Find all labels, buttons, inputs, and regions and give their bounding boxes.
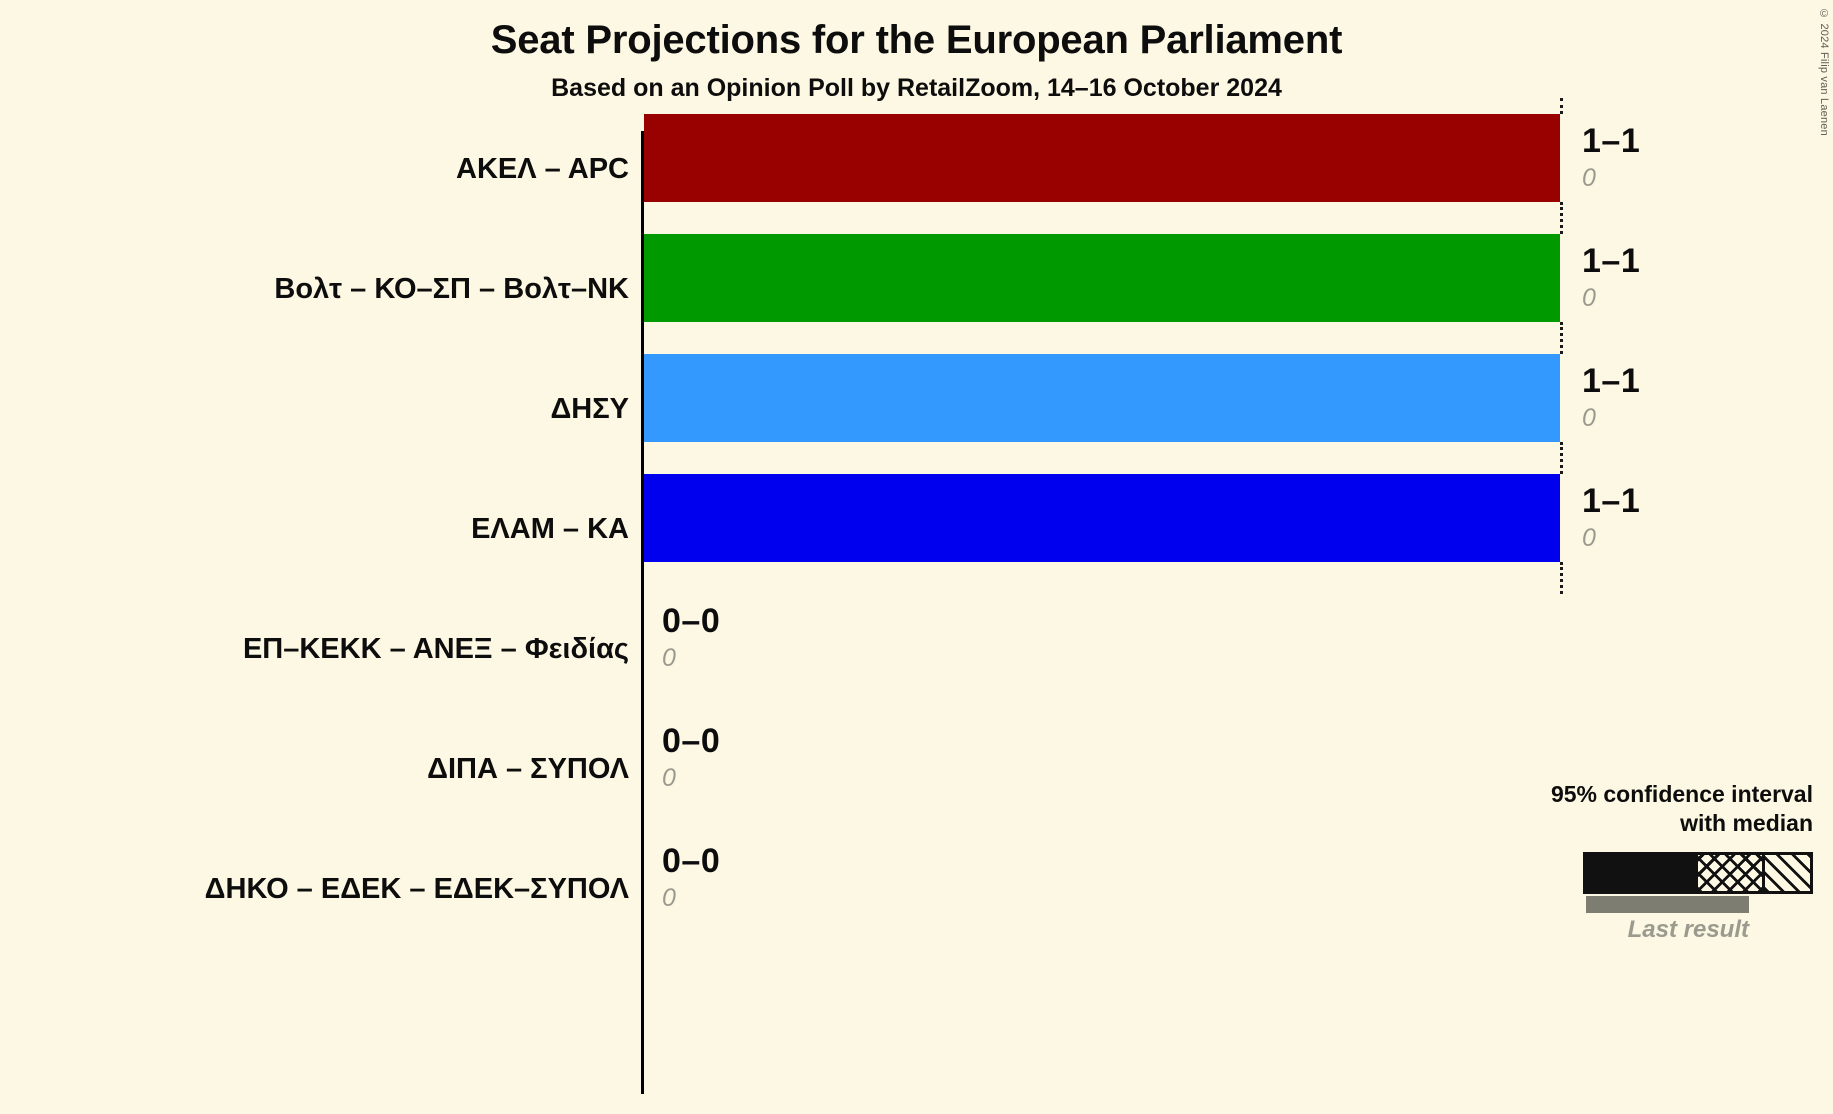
legend-ci-diagonal-segment xyxy=(1765,855,1810,891)
seat-range-value: 1–10 xyxy=(1582,484,1640,551)
confidence-interval-guide xyxy=(1560,442,1563,474)
legend-caption-line1: 95% confidence interval xyxy=(1493,780,1813,809)
seat-bar xyxy=(644,354,1560,442)
seat-range-text: 1–1 xyxy=(1582,244,1640,278)
seat-bar xyxy=(644,474,1560,562)
legend-swatches xyxy=(1493,852,1813,916)
seat-range-text: 1–1 xyxy=(1582,484,1640,518)
party-label: ΔΗΚΟ – ΕΔΕΚ – ΕΔΕΚ–ΣΥΠΟΛ xyxy=(205,834,645,944)
confidence-interval-guide xyxy=(1560,322,1563,354)
seat-range-value: 1–10 xyxy=(1582,244,1640,311)
legend-ci-crosshatch-segment xyxy=(1698,855,1765,891)
legend-caption: 95% confidence interval with median xyxy=(1493,780,1813,839)
last-result-value: 0 xyxy=(1582,286,1596,311)
seat-range-value: 1–10 xyxy=(1582,364,1640,431)
seat-range-text: 0–0 xyxy=(662,844,720,878)
bar-row: ΕΛΑΜ – ΚΑ1–10 xyxy=(0,474,1833,584)
seat-bar xyxy=(644,114,1560,202)
seat-bar xyxy=(644,234,1560,322)
seat-range-value: 0–00 xyxy=(662,724,720,791)
confidence-interval-guide xyxy=(1560,98,1563,114)
last-result-value: 0 xyxy=(662,886,676,911)
last-result-value: 0 xyxy=(662,766,676,791)
bar-row: Βολτ – ΚΟ–ΣΠ – Βολτ–ΝΚ1–10 xyxy=(0,234,1833,344)
last-result-value: 0 xyxy=(1582,526,1596,551)
legend-confidence-interval-swatch xyxy=(1583,852,1813,894)
legend-ci-solid-segment xyxy=(1586,855,1698,891)
party-label: ΔΗΣΥ xyxy=(550,354,645,464)
last-result-value: 0 xyxy=(1582,166,1596,191)
seat-range-text: 1–1 xyxy=(1582,364,1640,398)
party-label: ΑΚΕΛ – ΑΡC xyxy=(456,114,645,224)
legend-last-result-label: Last result xyxy=(1493,916,1813,944)
confidence-interval-guide xyxy=(1560,562,1563,594)
seat-range-value: 0–00 xyxy=(662,604,720,671)
chart-legend: 95% confidence interval with median Last… xyxy=(1493,780,1813,944)
confidence-interval-guide xyxy=(1560,202,1563,234)
party-label: ΕΛΑΜ – ΚΑ xyxy=(471,474,645,584)
party-label: ΕΠ–ΚΕΚΚ – ΑΝΕΞ – Φειδίας xyxy=(243,594,645,704)
seat-range-value: 1–10 xyxy=(1582,124,1640,191)
seat-range-value: 0–00 xyxy=(662,844,720,911)
party-label: ΔΙΠΑ – ΣΥΠΟΛ xyxy=(427,714,645,824)
last-result-value: 0 xyxy=(662,646,676,671)
bar-row: ΔΗΣΥ1–10 xyxy=(0,354,1833,464)
legend-caption-line2: with median xyxy=(1493,809,1813,838)
bar-row: ΑΚΕΛ – ΑΡC1–10 xyxy=(0,114,1833,224)
seat-range-text: 0–0 xyxy=(662,724,720,758)
party-label: Βολτ – ΚΟ–ΣΠ – Βολτ–ΝΚ xyxy=(274,234,645,344)
plot-area: ΑΚΕΛ – ΑΡC1–10Βολτ – ΚΟ–ΣΠ – Βολτ–ΝΚ1–10… xyxy=(0,0,1833,1114)
seat-projection-chart: Seat Projections for the European Parlia… xyxy=(0,0,1833,1114)
seat-range-text: 1–1 xyxy=(1582,124,1640,158)
seat-range-text: 0–0 xyxy=(662,604,720,638)
legend-last-result-swatch xyxy=(1586,896,1749,913)
last-result-value: 0 xyxy=(1582,406,1596,431)
bar-row: ΕΠ–ΚΕΚΚ – ΑΝΕΞ – Φειδίας0–00 xyxy=(0,594,1833,704)
